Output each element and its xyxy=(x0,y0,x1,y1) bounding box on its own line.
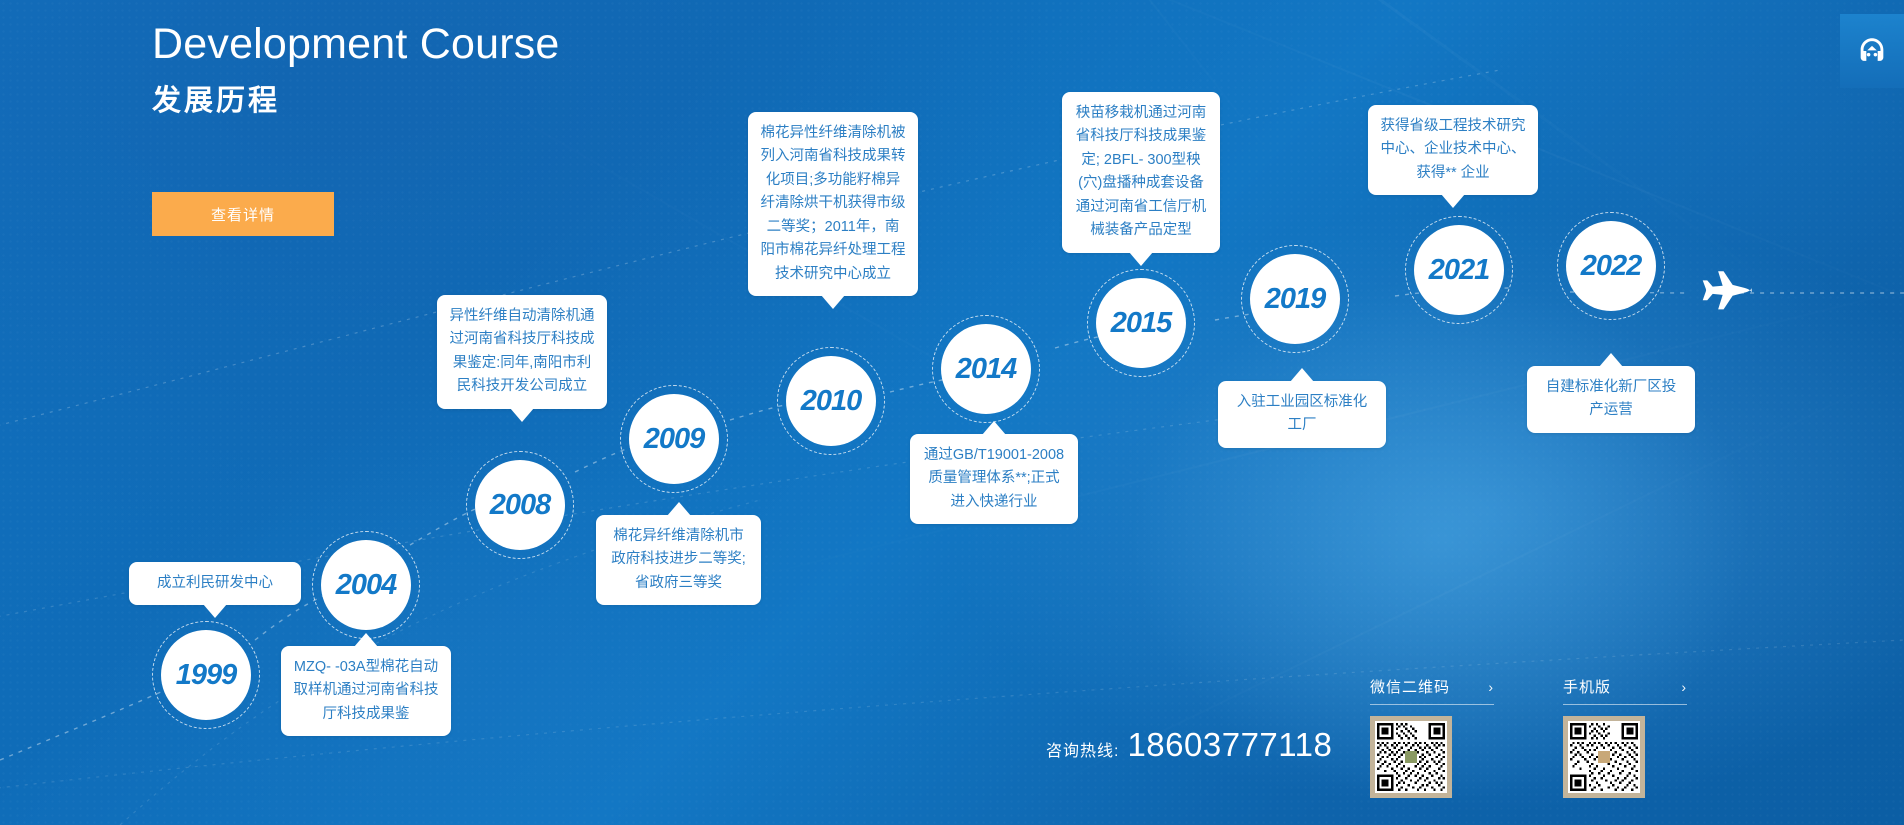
event-text: 秧苗移栽机通过河南省科技厅科技成果鉴定; 2BFL- 300型秧(穴)盘播种成套… xyxy=(1076,105,1207,238)
event-bubble[interactable]: 自建标准化新厂区投产运营 xyxy=(1527,366,1695,433)
qr-header-mobile[interactable]: 手机版 › xyxy=(1563,676,1687,705)
qr-label: 手机版 xyxy=(1563,676,1611,697)
event-bubble[interactable]: 棉花异性纤维清除机被列入河南省科技成果转化项目;多功能籽棉异纤清除烘干机获得市级… xyxy=(748,112,918,296)
hotline-block: 咨询热线: 18603777118 xyxy=(1046,726,1332,764)
year-circle[interactable]: 2021 xyxy=(1414,225,1504,315)
event-text: 棉花异性纤维清除机被列入河南省科技成果转化项目;多功能籽棉异纤清除烘干机获得市级… xyxy=(761,125,906,282)
qr-pattern xyxy=(1570,723,1638,791)
event-text: 异性纤维自动清除机通过河南省科技厅科技成果鉴定:同年,南阳市利民科技开发公司成立 xyxy=(450,308,595,394)
year-circle[interactable]: 2014 xyxy=(941,324,1031,414)
bubble-tip-icon xyxy=(354,633,378,647)
event-text: 通过GB/T19001-2008质量管理体系**;正式进入快递行业 xyxy=(924,447,1064,510)
bubble-tip-icon xyxy=(1129,252,1153,266)
event-text: 成立利民研发中心 xyxy=(157,575,273,591)
qr-header-wechat[interactable]: 微信二维码 › xyxy=(1370,676,1494,705)
bubble-tip-icon xyxy=(1441,194,1465,208)
page-title-en: Development Course xyxy=(152,20,560,69)
event-text: 入驻工业园区标准化工厂 xyxy=(1237,394,1368,433)
bubble-tip-icon xyxy=(1599,353,1623,367)
year-circle[interactable]: 2008 xyxy=(475,460,565,550)
event-text: MZQ- -03A型棉花自动取样机通过河南省科技厅科技成果鉴 xyxy=(294,659,439,722)
page-background: Development Course 发展历程 查看详情 1999 成立利民研发… xyxy=(0,0,1904,825)
airplane-icon xyxy=(1700,268,1758,318)
event-bubble[interactable]: 入驻工业园区标准化工厂 xyxy=(1218,381,1386,448)
airplane-marker xyxy=(1700,268,1758,323)
bubble-tip-icon xyxy=(982,421,1006,435)
chevron-right-icon: › xyxy=(1488,679,1494,695)
hotline-number: 18603777118 xyxy=(1127,726,1332,764)
year-circle[interactable]: 2004 xyxy=(321,540,411,630)
year-circle[interactable]: 1999 xyxy=(161,630,251,720)
view-detail-button[interactable]: 查看详情 xyxy=(152,192,334,236)
customer-service-button[interactable] xyxy=(1840,14,1904,88)
event-bubble[interactable]: 棉花异纤维清除机市政府科技进步二等奖;省政府三等奖 xyxy=(596,515,761,605)
chevron-right-icon: › xyxy=(1681,679,1687,695)
event-bubble[interactable]: 异性纤维自动清除机通过河南省科技厅科技成果鉴定:同年,南阳市利民科技开发公司成立 xyxy=(437,295,607,409)
headset-icon xyxy=(1855,34,1889,68)
event-bubble[interactable]: 成立利民研发中心 xyxy=(129,562,301,605)
event-bubble[interactable]: 秧苗移栽机通过河南省科技厅科技成果鉴定; 2BFL- 300型秧(穴)盘播种成套… xyxy=(1062,92,1220,253)
event-text: 获得省级工程技术研究中心、企业技术中心、获得** 企业 xyxy=(1381,118,1526,181)
event-text: 自建标准化新厂区投产运营 xyxy=(1546,379,1677,418)
year-circle[interactable]: 2010 xyxy=(786,356,876,446)
year-circle[interactable]: 2015 xyxy=(1096,278,1186,368)
hotline-label: 咨询热线: xyxy=(1046,737,1119,761)
bubble-tip-icon xyxy=(821,295,845,309)
event-bubble[interactable]: MZQ- -03A型棉花自动取样机通过河南省科技厅科技成果鉴 xyxy=(281,646,451,736)
event-bubble[interactable]: 获得省级工程技术研究中心、企业技术中心、获得** 企业 xyxy=(1368,105,1538,195)
qr-label: 微信二维码 xyxy=(1370,676,1450,697)
year-circle[interactable]: 2009 xyxy=(629,394,719,484)
event-bubble[interactable]: 通过GB/T19001-2008质量管理体系**;正式进入快递行业 xyxy=(910,434,1078,524)
year-circle[interactable]: 2022 xyxy=(1566,221,1656,311)
qr-block-mobile[interactable]: 手机版 › xyxy=(1563,676,1687,798)
bubble-tip-icon xyxy=(667,502,691,516)
qr-block-wechat[interactable]: 微信二维码 › xyxy=(1370,676,1494,798)
bubble-tip-icon xyxy=(203,604,227,618)
bubble-tip-icon xyxy=(510,408,534,422)
page-title-cn: 发展历程 xyxy=(152,77,560,119)
qr-pattern xyxy=(1377,723,1445,791)
event-text: 棉花异纤维清除机市政府科技进步二等奖;省政府三等奖 xyxy=(611,528,746,591)
bubble-tip-icon xyxy=(1290,368,1314,382)
qr-code-image-wechat xyxy=(1370,716,1452,798)
qr-code-image-mobile xyxy=(1563,716,1645,798)
year-circle[interactable]: 2019 xyxy=(1250,254,1340,344)
page-title-block: Development Course 发展历程 xyxy=(152,20,560,119)
